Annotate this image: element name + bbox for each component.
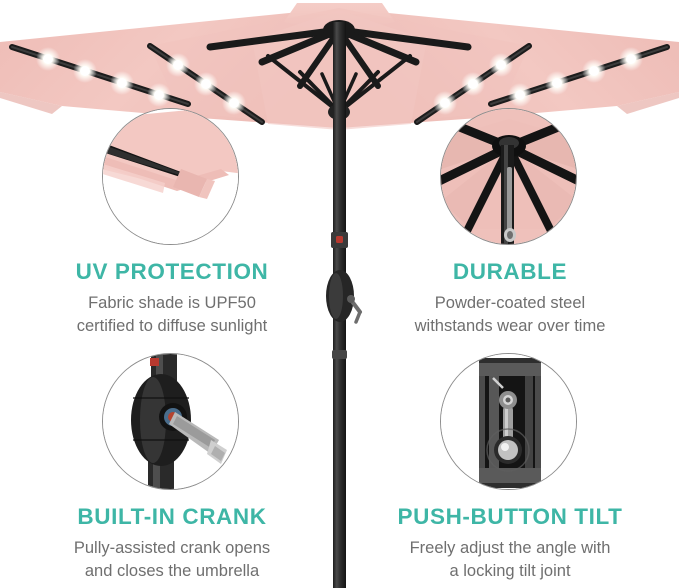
feature-uv-protection: UV PROTECTION Fabric shade is UPF50 cert… [12, 108, 332, 337]
feature-desc-line: Fabric shade is UPF50 [12, 292, 332, 315]
feature-description: Pully-assisted crank opens and closes th… [12, 537, 332, 583]
feature-title: BUILT-IN CRANK [12, 505, 332, 530]
feature-built-in-crank: BUILT-IN CRANK Pully-assisted crank open… [12, 353, 332, 582]
tilt-joint-closeup-icon [440, 353, 577, 490]
feature-image-wrap [102, 108, 242, 248]
feature-description: Powder-coated steel withstands wear over… [350, 292, 670, 338]
fabric-canopy-closeup-icon [102, 108, 239, 245]
feature-desc-line: and closes the umbrella [12, 560, 332, 583]
feature-title: DURABLE [350, 260, 670, 285]
feature-title: PUSH-BUTTON TILT [350, 505, 670, 530]
feature-image-wrap [440, 108, 580, 248]
feature-image-wrap [440, 353, 580, 493]
feature-title: UV PROTECTION [12, 260, 332, 285]
feature-grid: UV PROTECTION Fabric shade is UPF50 cert… [0, 0, 679, 588]
feature-desc-line: Pully-assisted crank opens [12, 537, 332, 560]
feature-desc-line: certified to diffuse sunlight [12, 315, 332, 338]
feature-desc-line: Freely adjust the angle with [350, 537, 670, 560]
feature-desc-line: a locking tilt joint [350, 560, 670, 583]
product-feature-infographic: UV PROTECTION Fabric shade is UPF50 cert… [0, 0, 679, 588]
crank-handle-closeup-icon [102, 353, 239, 490]
feature-push-button-tilt: PUSH-BUTTON TILT Freely adjust the angle… [350, 353, 670, 582]
feature-desc-line: withstands wear over time [350, 315, 670, 338]
feature-description: Fabric shade is UPF50 certified to diffu… [12, 292, 332, 338]
feature-durable: DURABLE Powder-coated steel withstands w… [350, 108, 670, 337]
steel-hub-closeup-icon [440, 108, 577, 245]
feature-image-wrap [102, 353, 242, 493]
feature-description: Freely adjust the angle with a locking t… [350, 537, 670, 583]
feature-desc-line: Powder-coated steel [350, 292, 670, 315]
